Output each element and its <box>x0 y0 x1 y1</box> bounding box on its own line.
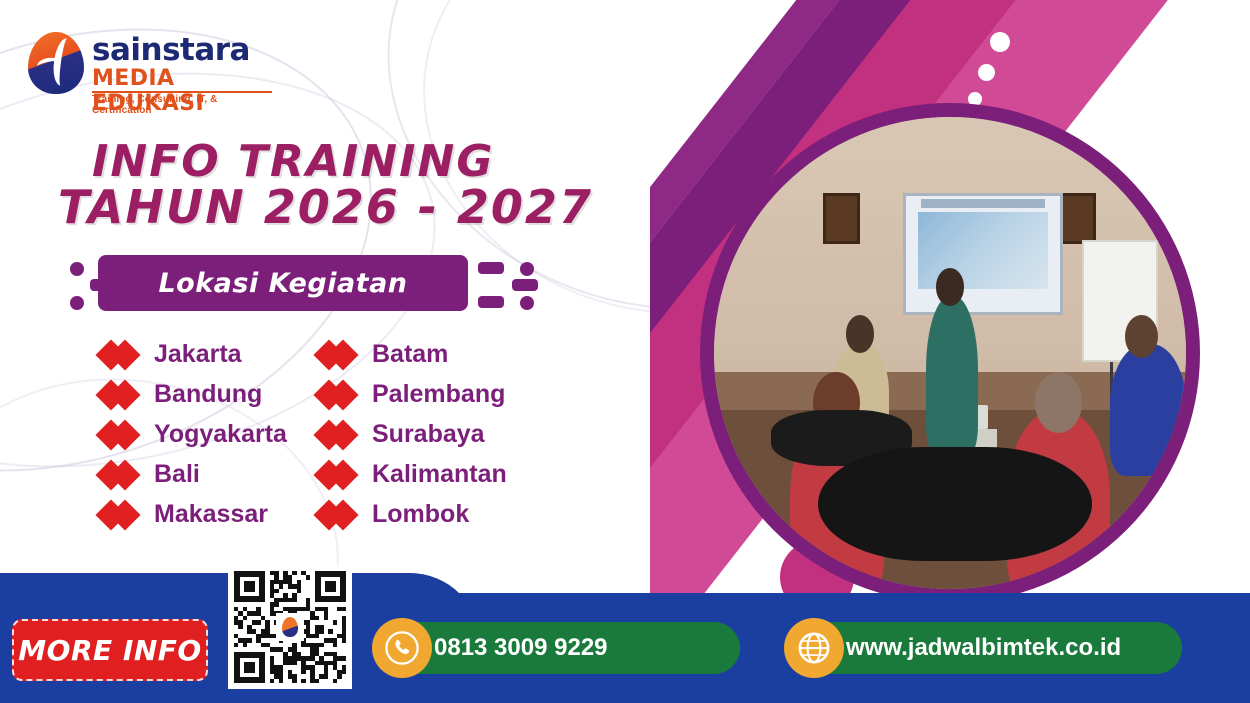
phone-number: 0813 3009 9229 <box>434 634 608 662</box>
location-label: Bali <box>154 460 200 489</box>
brand-logo: sainstara MEDIA EDUKASI Training, Consul… <box>28 30 268 115</box>
flame-bird-logo-icon <box>28 32 84 94</box>
location-item[interactable]: Lombok <box>318 500 469 529</box>
brand-tagline: Training, Consulting, IT, & Certificatio… <box>92 94 268 116</box>
qr-code[interactable] <box>228 565 352 689</box>
phone-pill[interactable]: 0813 3009 9229 <box>378 622 740 674</box>
diamond-bullet-icon <box>318 501 362 529</box>
more-info-label: MORE INFO <box>18 634 201 667</box>
website-url: www.jadwalbimtek.co.id <box>846 634 1121 662</box>
photo-ring <box>700 103 1200 603</box>
location-item[interactable]: Palembang <box>318 380 505 409</box>
location-label: Bandung <box>154 380 262 409</box>
diamond-bullet-icon <box>318 421 362 449</box>
location-label: Makassar <box>154 500 268 529</box>
location-item[interactable]: Kalimantan <box>318 460 507 489</box>
ribbon-deco <box>478 262 504 274</box>
diamond-bullet-icon <box>318 341 362 369</box>
location-label: Batam <box>372 340 448 369</box>
phone-icon <box>372 618 432 678</box>
website-pill[interactable]: www.jadwalbimtek.co.id <box>790 622 1182 674</box>
ribbon-deco <box>520 296 534 310</box>
diamond-bullet-icon <box>318 381 362 409</box>
poster-canvas: sainstara MEDIA EDUKASI Training, Consul… <box>0 0 1250 703</box>
brand-divider <box>92 91 272 93</box>
location-row: Yogyakarta Surabaya <box>100 420 640 449</box>
location-label: Lombok <box>372 500 469 529</box>
diamond-bullet-icon <box>100 381 144 409</box>
headline-line-2: TAHUN 2026 - 2027 <box>58 180 593 234</box>
location-item[interactable]: Jakarta <box>100 340 318 369</box>
location-item[interactable]: Bandung <box>100 380 318 409</box>
location-item[interactable]: Bali <box>100 460 318 489</box>
location-label: Jakarta <box>154 340 242 369</box>
ribbon-deco <box>70 296 84 310</box>
diamond-bullet-icon <box>100 341 144 369</box>
diamond-bullet-icon <box>100 421 144 449</box>
brand-name: sainstara <box>92 32 250 68</box>
location-row: Jakarta Batam <box>100 340 640 369</box>
location-row: Makassar Lombok <box>100 500 640 529</box>
location-row: Bandung Palembang <box>100 380 640 409</box>
diamond-bullet-icon <box>100 461 144 489</box>
section-ribbon: Lokasi Kegiatan <box>98 255 468 311</box>
location-item[interactable]: Batam <box>318 340 448 369</box>
diamond-bullet-icon <box>318 461 362 489</box>
globe-icon <box>784 618 844 678</box>
location-item[interactable]: Surabaya <box>318 420 485 449</box>
location-item[interactable]: Yogyakarta <box>100 420 318 449</box>
ribbon-deco <box>520 262 534 276</box>
ribbon-deco <box>512 279 538 291</box>
location-label: Surabaya <box>372 420 485 449</box>
diamond-bullet-icon <box>100 501 144 529</box>
location-label: Yogyakarta <box>154 420 287 449</box>
locations-list: Jakarta Batam Bandung Palembang Yogyakar… <box>100 340 640 540</box>
ribbon-deco <box>70 262 84 276</box>
location-label: Kalimantan <box>372 460 507 489</box>
location-label: Palembang <box>372 380 505 409</box>
location-item[interactable]: Makassar <box>100 500 318 529</box>
ribbon-deco <box>478 296 504 308</box>
ribbon-label: Lokasi Kegiatan <box>158 268 407 299</box>
training-session-photo <box>714 117 1186 589</box>
location-row: Bali Kalimantan <box>100 460 640 489</box>
more-info-button[interactable]: MORE INFO <box>12 619 208 681</box>
